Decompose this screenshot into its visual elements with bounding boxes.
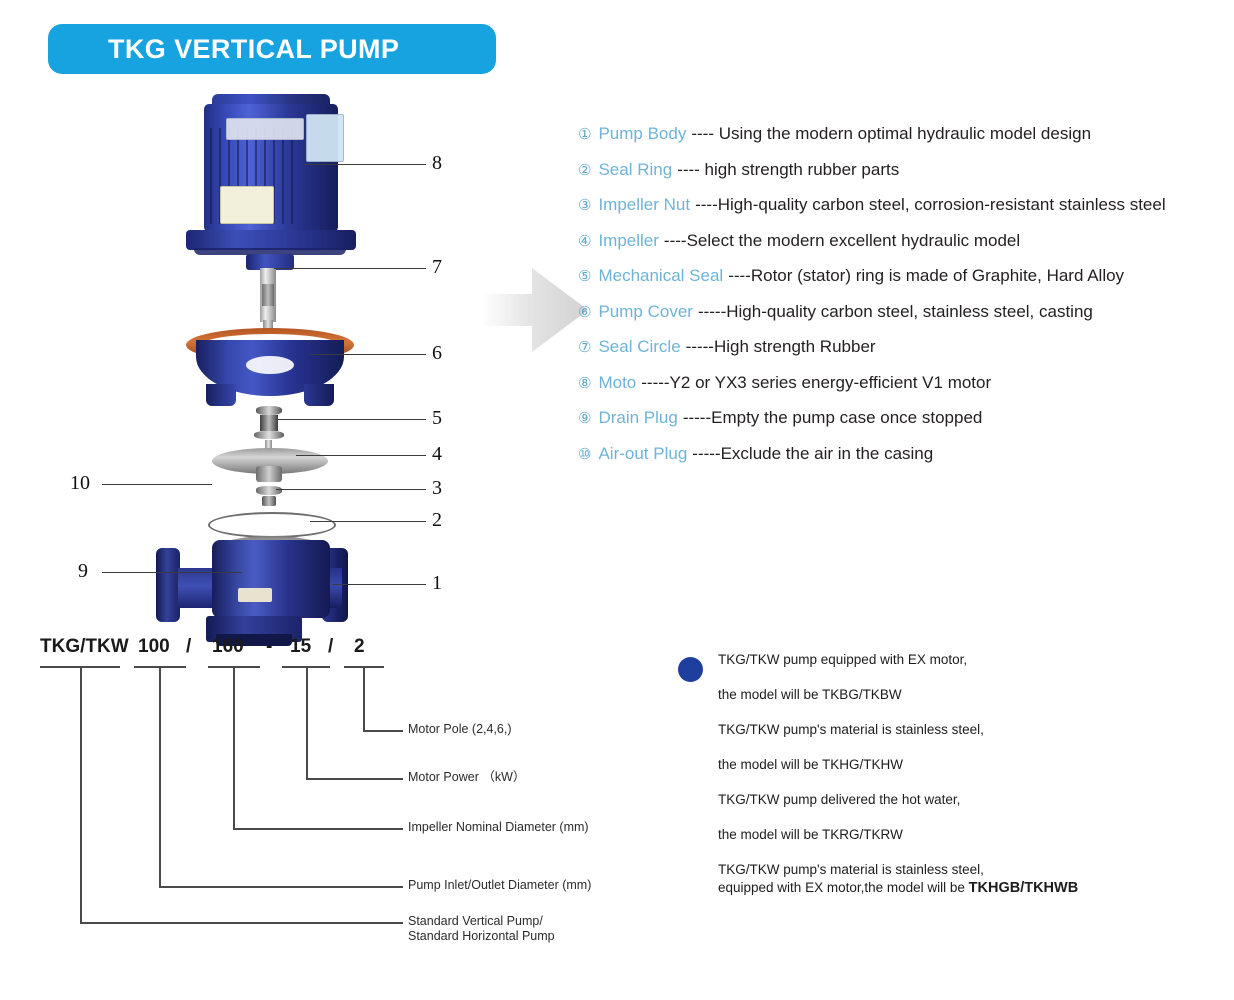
legend-description: -----High-quality carbon steel, stainles…: [698, 302, 1093, 322]
note-line-3: TKG/TKW pump's material is stainless ste…: [718, 722, 1188, 738]
legend-part-name: Impeller: [598, 231, 658, 251]
model-token-sep-3: /: [328, 636, 333, 658]
shaft-keyway: [262, 284, 274, 306]
legend-part-name: Impeller Nut: [598, 195, 690, 215]
legend-number-icon: ⑤: [578, 267, 591, 285]
callout-number-2: 2: [432, 509, 442, 532]
legend-number-icon: ④: [578, 232, 591, 250]
leader-line-4: [296, 455, 426, 456]
legend-description: ----Rotor (stator) ring is made of Graph…: [728, 266, 1124, 286]
model-token-series: TKG/TKW: [40, 636, 129, 658]
pump-inlet-flange: [156, 548, 180, 622]
impeller-nut: [262, 496, 276, 506]
note-line-8-prefix: equipped with EX motor,the model will be: [718, 880, 969, 895]
legend-item-6: ⑥ Pump Cover -----High-quality carbon st…: [578, 302, 1228, 322]
legend-number-icon: ⑩: [578, 445, 591, 463]
legend-item-8: ⑧ Moto -----Y2 or YX3 series energy-effi…: [578, 373, 1228, 393]
callout-number-6: 6: [432, 342, 442, 365]
callout-number-5: 5: [432, 407, 442, 430]
model-drop-impeller: [233, 666, 235, 828]
legend-part-name: Moto: [598, 373, 636, 393]
legend-item-9: ⑨ Drain Plug -----Empty the pump case on…: [578, 408, 1228, 428]
note-line-4: the model will be TKHG/TKHW: [718, 757, 1188, 773]
mechanical-seal-base: [254, 431, 284, 439]
callout-number-1: 1: [432, 572, 442, 595]
callout-number-9: 9: [78, 560, 88, 583]
leader-line-6: [310, 354, 426, 355]
motor-label: [220, 186, 274, 224]
pump-body-casing: [212, 540, 330, 618]
legend-description: -----Exclude the air in the casing: [692, 444, 933, 464]
legend-description: ---- high strength rubber parts: [677, 160, 899, 180]
model-callout-series-line1: Standard Vertical Pump/: [408, 914, 543, 928]
legend-number-icon: ⑧: [578, 374, 591, 392]
leader-line-9: [102, 572, 242, 573]
legend-item-3: ③ Impeller Nut ----High-quality carbon s…: [578, 195, 1228, 215]
page-title-banner: TKG VERTICAL PUMP: [48, 24, 496, 74]
legend-description: ----Select the modern excellent hydrauli…: [664, 231, 1020, 251]
legend-number-icon: ①: [578, 125, 591, 143]
model-elbow-power: [306, 778, 403, 780]
model-drop-inlet: [159, 666, 161, 886]
legend-part-name: Seal Ring: [598, 160, 672, 180]
impeller-nut-washer: [256, 486, 282, 495]
model-token-sep-2: -: [266, 636, 272, 658]
bullet-icon: [678, 657, 703, 682]
mechanical-seal-top: [256, 406, 282, 415]
motor-mounting-flange: [186, 230, 356, 250]
model-callout-pole: Motor Pole (2,4,6,): [408, 722, 512, 737]
legend-number-icon: ⑦: [578, 338, 591, 356]
legend-part-name: Seal Circle: [598, 337, 680, 357]
callout-number-10: 10: [70, 472, 90, 495]
note-line-2: the model will be TKBG/TKBW: [718, 687, 1188, 703]
legend-description: ---- Using the modern optimal hydraulic …: [691, 124, 1091, 144]
model-drop-series: [80, 666, 82, 922]
note-line-7: TKG/TKW pump's material is stainless ste…: [718, 862, 1188, 878]
model-callout-power: Motor Power （kW）: [408, 770, 525, 785]
pump-cover-opening: [246, 356, 294, 374]
exploded-pump-diagram: 8 7 6 5 4 3 2 1 10 9: [60, 88, 480, 608]
legend-number-icon: ⑨: [578, 409, 591, 427]
impeller-hub: [256, 466, 282, 482]
motor-terminal-box: [306, 114, 344, 162]
legend-part-name: Air-out Plug: [598, 444, 687, 464]
legend-description: -----High strength Rubber: [686, 337, 876, 357]
model-callout-series: Standard Vertical Pump/ Standard Horizon…: [408, 914, 555, 944]
callout-number-4: 4: [432, 443, 442, 466]
note-line-8: equipped with EX motor,the model will be…: [718, 880, 1188, 896]
legend-part-name: Mechanical Seal: [598, 266, 723, 286]
legend-item-4: ④ Impeller ----Select the modern excelle…: [578, 231, 1228, 251]
pump-cover-leg-right: [304, 384, 334, 406]
legend-part-name: Pump Cover: [598, 302, 692, 322]
legend-part-name: Pump Body: [598, 124, 686, 144]
model-token-impeller: 160: [212, 636, 244, 658]
legend-description: -----Y2 or YX3 series energy-efficient V…: [641, 373, 991, 393]
model-drop-pole: [363, 666, 365, 730]
leader-line-1: [332, 584, 426, 585]
legend-item-10: ⑩ Air-out Plug -----Exclude the air in t…: [578, 444, 1228, 464]
callout-number-8: 8: [432, 152, 442, 175]
leader-line-5: [278, 419, 426, 420]
callout-number-3: 3: [432, 477, 442, 500]
model-elbow-inlet: [159, 886, 403, 888]
legend-number-icon: ③: [578, 196, 591, 214]
legend-item-7: ⑦ Seal Circle -----High strength Rubber: [578, 337, 1228, 357]
legend-number-icon: ⑥: [578, 303, 591, 321]
leader-line-2: [310, 521, 426, 522]
legend-item-2: ② Seal Ring ---- high strength rubber pa…: [578, 160, 1228, 180]
leader-line-8: [304, 164, 426, 165]
model-code-breakdown: TKG/TKW 100 / 160 - 15 / 2 Motor Pole (2…: [34, 636, 594, 956]
legend-description: ----High-quality carbon steel, corrosion…: [695, 195, 1166, 215]
model-variant-notes: TKG/TKW pump equipped with EX motor, the…: [718, 652, 1188, 915]
model-callout-inlet: Pump Inlet/Outlet Diameter (mm): [408, 878, 591, 893]
legend-description: -----Empty the pump case once stopped: [683, 408, 983, 428]
parts-legend: ① Pump Body ---- Using the modern optima…: [578, 124, 1228, 479]
legend-part-name: Drain Plug: [598, 408, 677, 428]
model-token-inlet: 100: [138, 636, 170, 658]
note-line-5: TKG/TKW pump delivered the hot water,: [718, 792, 1188, 808]
model-elbow-impeller: [233, 828, 403, 830]
pump-cover-leg-left: [206, 384, 236, 406]
page-title: TKG VERTICAL PUMP: [108, 34, 399, 65]
model-token-sep-1: /: [186, 636, 191, 658]
legend-number-icon: ②: [578, 161, 591, 179]
right-arrow-icon: [482, 262, 590, 358]
leader-line-3: [276, 489, 426, 490]
model-token-power: 15: [290, 636, 311, 658]
note-line-8-model: TKHGB/TKHWB: [969, 880, 1079, 896]
callout-number-7: 7: [432, 256, 442, 279]
mechanical-seal-body: [260, 415, 278, 431]
leader-line-7: [274, 268, 426, 269]
pump-spec-sheet: TKG VERTICAL PUMP: [0, 0, 1234, 1000]
legend-item-5: ⑤ Mechanical Seal ----Rotor (stator) rin…: [578, 266, 1228, 286]
model-callout-impeller: Impeller Nominal Diameter (mm): [408, 820, 589, 835]
note-line-6: the model will be TKRG/TKRW: [718, 827, 1188, 843]
legend-item-1: ① Pump Body ---- Using the modern optima…: [578, 124, 1228, 144]
pump-body-tag: [238, 588, 272, 602]
seal-ring-oring: [208, 512, 336, 538]
motor-nameplate: [226, 118, 304, 140]
leader-line-10: [102, 484, 212, 485]
model-elbow-series: [80, 922, 403, 924]
model-callout-series-line2: Standard Horizontal Pump: [408, 929, 555, 943]
model-drop-power: [306, 666, 308, 778]
model-elbow-pole: [363, 730, 403, 732]
model-token-pole: 2: [354, 636, 365, 658]
note-line-1: TKG/TKW pump equipped with EX motor,: [718, 652, 1188, 668]
